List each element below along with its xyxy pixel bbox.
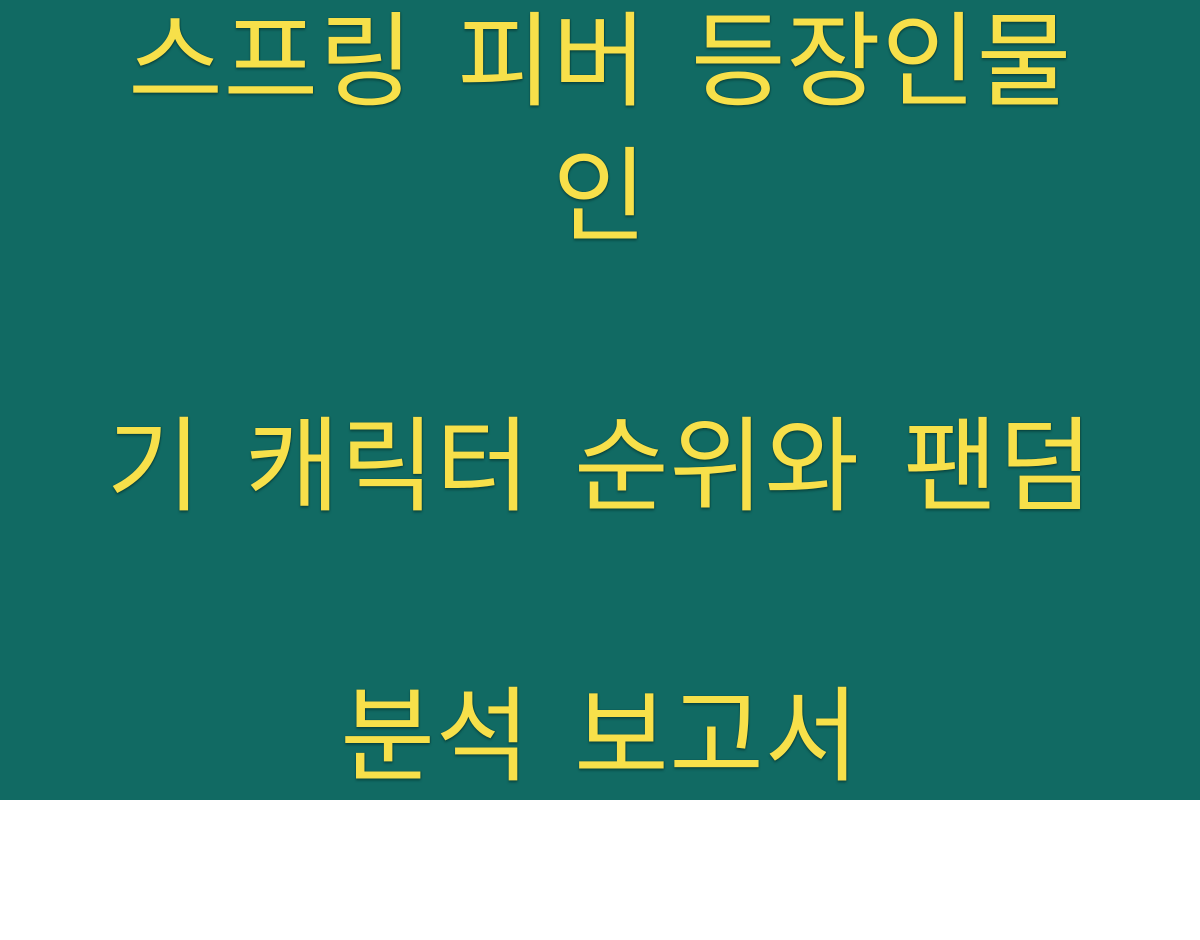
title-card: 스프링 피버 등장인물 인 기 캐릭터 순위와 팬덤 분석 보고서 [0,0,1200,800]
page-title: 스프링 피버 등장인물 인 기 캐릭터 순위와 팬덤 분석 보고서 [0,0,1200,940]
title-line-2: 기 캐릭터 순위와 팬덤 [60,400,1140,535]
title-line-3: 분석 보고서 [60,670,1140,805]
title-line-1: 스프링 피버 등장인물 인 [60,0,1140,265]
